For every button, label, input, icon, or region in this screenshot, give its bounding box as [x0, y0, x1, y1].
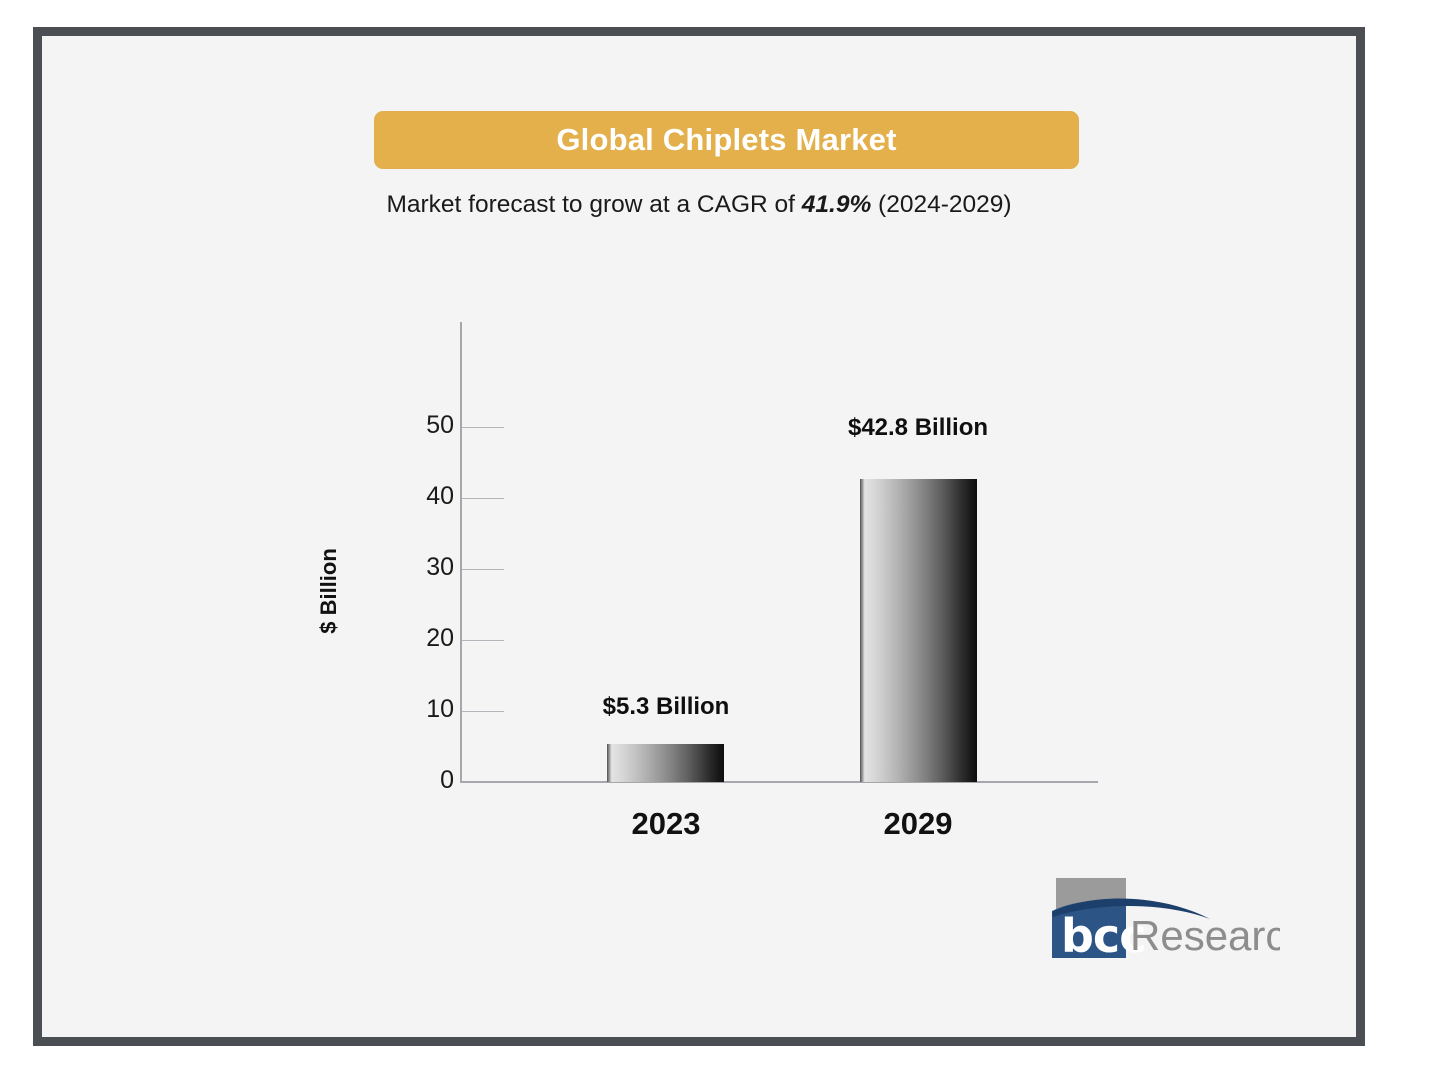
bar-2029	[860, 479, 977, 782]
y-axis-title: $ Billion	[316, 548, 342, 634]
x-axis-line	[460, 781, 1098, 783]
y-tick-40: 40	[372, 498, 502, 500]
y-tick-label: 20	[426, 624, 454, 653]
y-tick-20: 20	[372, 640, 502, 642]
gridline	[462, 427, 504, 428]
gridline	[462, 711, 504, 712]
bar-2023	[607, 744, 724, 782]
x-category-2023: 2023	[561, 806, 771, 842]
y-tick-10: 10	[372, 711, 502, 713]
x-category-2029: 2029	[813, 806, 1023, 842]
slide-frame: Global Chiplets Market Market forecast t…	[33, 27, 1365, 1046]
bcc-research-logo: bcc Research	[1050, 876, 1280, 971]
gridline	[462, 640, 504, 641]
gridline	[462, 569, 504, 570]
logo-research-text: Research	[1130, 912, 1280, 959]
y-axis-line	[460, 322, 462, 782]
y-tick-30: 30	[372, 569, 502, 571]
y-tick-label: 0	[440, 766, 454, 795]
y-tick-label: 10	[426, 695, 454, 724]
bar-value-2029: $42.8 Billion	[813, 414, 1023, 442]
y-tick-label: 50	[426, 411, 454, 440]
gridline	[462, 498, 504, 499]
y-tick-label: 40	[426, 482, 454, 511]
y-tick-0: 0	[372, 782, 502, 784]
bar-value-2023: $5.3 Billion	[561, 693, 771, 721]
y-tick-50: 50	[372, 427, 502, 429]
y-tick-label: 30	[426, 553, 454, 582]
